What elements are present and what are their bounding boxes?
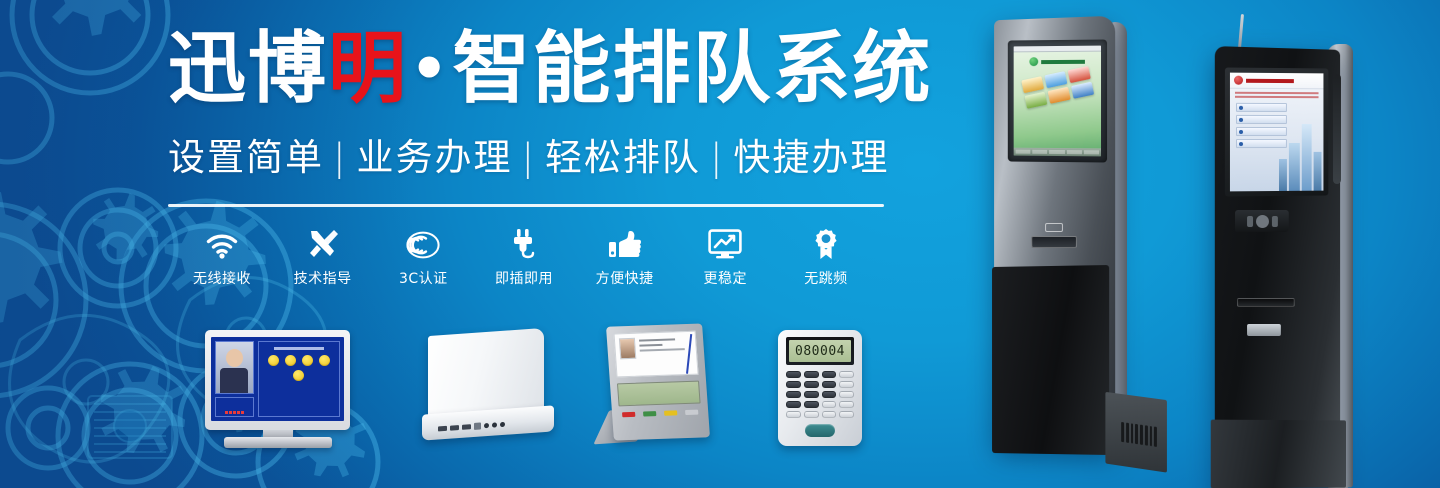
- horizontal-divider: [168, 204, 884, 207]
- kiosk-green-menu-tiles: [1021, 66, 1094, 109]
- id-card-text-lines: [639, 336, 693, 372]
- kiosk-icbc-building-image: [1279, 118, 1322, 191]
- feature-label-wireless: 无线接收: [193, 268, 251, 288]
- kiosk-green-footer-bar: [1014, 148, 1101, 157]
- kiosk-green-vent-grille: [1121, 422, 1157, 447]
- monitor-screen: [211, 337, 344, 421]
- subtitle-separator-0: |: [324, 136, 356, 179]
- title-highlight-character: 明: [328, 24, 408, 114]
- monitor-chart-icon: [708, 225, 742, 259]
- kiosk-green-screen-bezel: [1008, 39, 1107, 162]
- evaluator-body: [606, 323, 710, 440]
- feature-item-3c-cert: 3C认证: [375, 225, 471, 288]
- promo-banner: 迅博明•智能排队系统 设置简单|业务办理|轻松排队|快捷办理: [0, 0, 1440, 488]
- monitor-frame: [205, 330, 350, 430]
- kiosk-icbc-screen-bezel: [1225, 68, 1328, 197]
- host-front-panel: [428, 328, 544, 422]
- control-host-box: [422, 332, 554, 444]
- feature-label-tech-support: 技术指导: [294, 268, 352, 288]
- host-base-unit: [422, 405, 554, 440]
- kiosk-icbc-subtitle-lines: [1235, 92, 1319, 99]
- subtitle-item-1: 业务办理: [356, 136, 512, 179]
- keypad-body: 080004: [778, 330, 862, 446]
- monitor-rating-panel: [258, 341, 340, 417]
- rating-prompt-line: [274, 347, 324, 350]
- feature-item-plug-and-play: 即插即用: [476, 225, 572, 288]
- feature-label-3c-cert: 3C认证: [399, 268, 448, 288]
- ccc-certify-icon: [406, 225, 440, 259]
- power-plug-icon: [510, 225, 538, 259]
- feature-list: 无线接收 技术指导: [168, 225, 874, 288]
- evaluator-button-row: [619, 409, 701, 417]
- star-rating: [215, 397, 254, 417]
- monitor-stand-base: [224, 437, 332, 448]
- printer-icon: [1045, 223, 1063, 232]
- kiosk-green-bank-logo: [1029, 57, 1085, 66]
- kiosk-green-title-bar: [1014, 46, 1101, 53]
- evaluator-lcd: [617, 381, 701, 407]
- subtitle: 设置简单|业务办理|轻松排队|快捷办理: [168, 127, 908, 181]
- title-part-two: 智能排队系统: [452, 24, 932, 114]
- award-ribbon-icon: [813, 225, 839, 259]
- keypad-button-grid: [786, 371, 854, 418]
- title-separator-dot: •: [408, 34, 452, 104]
- keypad-call-button: [805, 424, 835, 437]
- subtitle-item-2: 轻松排队: [545, 136, 701, 179]
- keypad-lcd-bezel: 080004: [786, 337, 854, 365]
- host-port-row: [438, 421, 505, 433]
- calling-keypad: 080004: [778, 330, 862, 446]
- banner-content: 迅博明•智能排队系统 设置简单|业务办理|轻松排队|快捷办理: [168, 28, 908, 288]
- staff-photo: [215, 341, 254, 394]
- subtitle-separator-2: |: [701, 136, 733, 179]
- monitor-staff-panel: [215, 341, 254, 417]
- keypad-display-value: 080004: [795, 345, 845, 358]
- feature-item-no-freq-hop: 无跳频: [778, 225, 874, 288]
- feature-label-plug-and-play: 即插即用: [495, 268, 553, 288]
- subtitle-item-3: 快捷办理: [733, 136, 889, 179]
- kiosk-green-ticket-slot: [1031, 236, 1077, 248]
- wifi-icon: [205, 225, 239, 259]
- kiosk-icbc-bank-logo: [1230, 73, 1323, 90]
- tools-icon: [307, 225, 339, 259]
- evaluation-monitor: [205, 330, 350, 448]
- kiosk-green-lower-body: [992, 265, 1109, 455]
- id-card-photo: [619, 338, 636, 360]
- feature-item-tech-support: 技术指导: [275, 225, 371, 288]
- keypad-lcd-screen: 080004: [789, 340, 851, 362]
- thumbs-up-icon: [609, 225, 641, 259]
- subtitle-item-0: 设置简单: [168, 136, 324, 179]
- feature-label-stable: 更稳定: [704, 268, 748, 288]
- queue-kiosk-green: [955, 18, 1165, 488]
- emoji-face-group: [266, 355, 332, 381]
- kiosk-green-screen: [1014, 46, 1101, 157]
- kiosk-icbc-brand-plate: [1247, 324, 1281, 336]
- feature-item-convenient: 方便快捷: [577, 225, 673, 288]
- kiosk-icbc-ticket-slot: [1237, 298, 1295, 307]
- evaluator-stand: [593, 408, 652, 445]
- kiosk-icbc-base: [1211, 420, 1346, 488]
- feature-label-convenient: 方便快捷: [596, 268, 654, 288]
- feature-item-wireless: 无线接收: [174, 225, 270, 288]
- evaluator-id-card: [614, 331, 699, 378]
- monitor-stand-neck: [263, 430, 293, 438]
- kiosk-icbc-edge-slot: [1333, 74, 1341, 184]
- feature-label-no-freq-hop: 无跳频: [804, 268, 848, 288]
- kiosk-icbc-card-reader: [1235, 210, 1289, 232]
- queue-kiosk-icbc: [1195, 14, 1400, 488]
- kiosk-green-ticket-area: [1025, 223, 1083, 249]
- subtitle-separator-1: |: [512, 136, 544, 179]
- kiosk-icbc-screen: [1230, 73, 1323, 192]
- feature-item-stable: 更稳定: [677, 225, 773, 288]
- page-title: 迅博明•智能排队系统: [168, 28, 908, 111]
- desktop-evaluator: [600, 325, 718, 447]
- title-part-one: 迅博: [168, 24, 328, 114]
- kiosk-green-side-box: [1105, 392, 1167, 473]
